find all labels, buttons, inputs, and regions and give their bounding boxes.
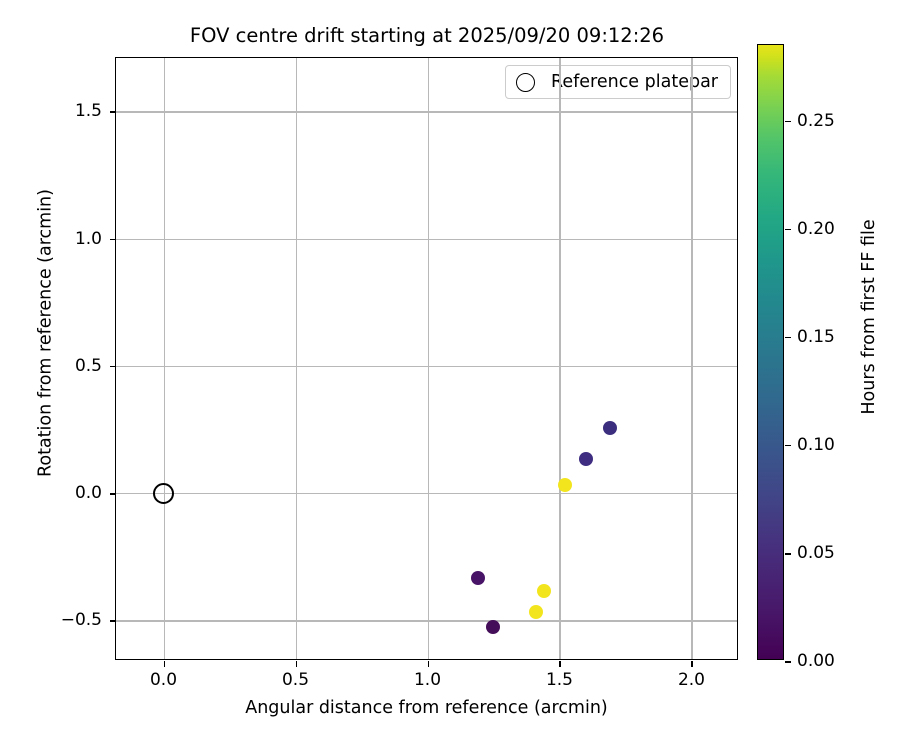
x-gridline (691, 58, 692, 659)
colorbar-tick-label: 0.25 (797, 111, 835, 131)
x-gridline (428, 58, 429, 659)
x-gridline (559, 58, 560, 659)
x-tick (164, 661, 166, 667)
y-gridline (116, 239, 737, 240)
y-axis-label: Rotation from reference (arcmin) (35, 32, 57, 635)
x-gridline (164, 58, 165, 659)
y-tick (110, 239, 116, 241)
scatter-point (558, 478, 572, 492)
x-gridline (296, 58, 297, 659)
reference-platepar-marker (153, 483, 174, 504)
colorbar-tick (785, 553, 791, 555)
colorbar-tick (785, 661, 791, 663)
colorbar: 0.000.050.100.150.200.25 (757, 44, 784, 660)
x-tick-label: 1.0 (388, 670, 468, 690)
x-axis-label: Angular distance from reference (arcmin) (115, 697, 738, 719)
scatter-point (603, 421, 617, 435)
legend: Reference platepar (505, 65, 731, 99)
x-tick-label: 0.0 (124, 670, 204, 690)
y-tick (110, 366, 116, 368)
colorbar-tick-label: 0.05 (797, 543, 835, 563)
scatter-point (537, 584, 551, 598)
y-tick (110, 620, 116, 622)
colorbar-tick (785, 337, 791, 339)
plot-axes-area: Reference platepar 0.00.51.01.52.0−0.50.… (115, 57, 738, 660)
colorbar-tick (785, 121, 791, 123)
scatter-point (486, 620, 500, 634)
scatter-point (529, 605, 543, 619)
x-tick (691, 661, 693, 667)
x-tick-label: 1.5 (519, 670, 599, 690)
y-gridline (116, 493, 737, 494)
x-tick (296, 661, 298, 667)
legend-label: Reference platepar (551, 72, 718, 92)
colorbar-tick-label: 0.10 (797, 435, 835, 455)
scatter-point (471, 571, 485, 585)
colorbar-tick-label: 0.15 (797, 327, 835, 347)
y-tick (110, 111, 116, 113)
y-gridline (116, 111, 737, 112)
y-gridline (116, 366, 737, 367)
y-gridline (116, 620, 737, 621)
x-tick-label: 0.5 (256, 670, 336, 690)
reference-platepar-legend-marker-icon (516, 73, 535, 92)
colorbar-label: Hours from first FF file (858, 9, 880, 625)
x-tick (559, 661, 561, 667)
x-tick (428, 661, 430, 667)
page-title: FOV centre drift starting at 2025/09/20 … (115, 24, 739, 48)
colorbar-tick-label: 0.20 (797, 219, 835, 239)
y-tick (110, 493, 116, 495)
colorbar-tick-label: 0.00 (797, 651, 835, 671)
scatter-point (579, 452, 593, 466)
colorbar-tick (785, 229, 791, 231)
x-tick-label: 2.0 (651, 670, 731, 690)
figure-canvas: FOV centre drift starting at 2025/09/20 … (0, 0, 900, 750)
colorbar-tick (785, 445, 791, 447)
